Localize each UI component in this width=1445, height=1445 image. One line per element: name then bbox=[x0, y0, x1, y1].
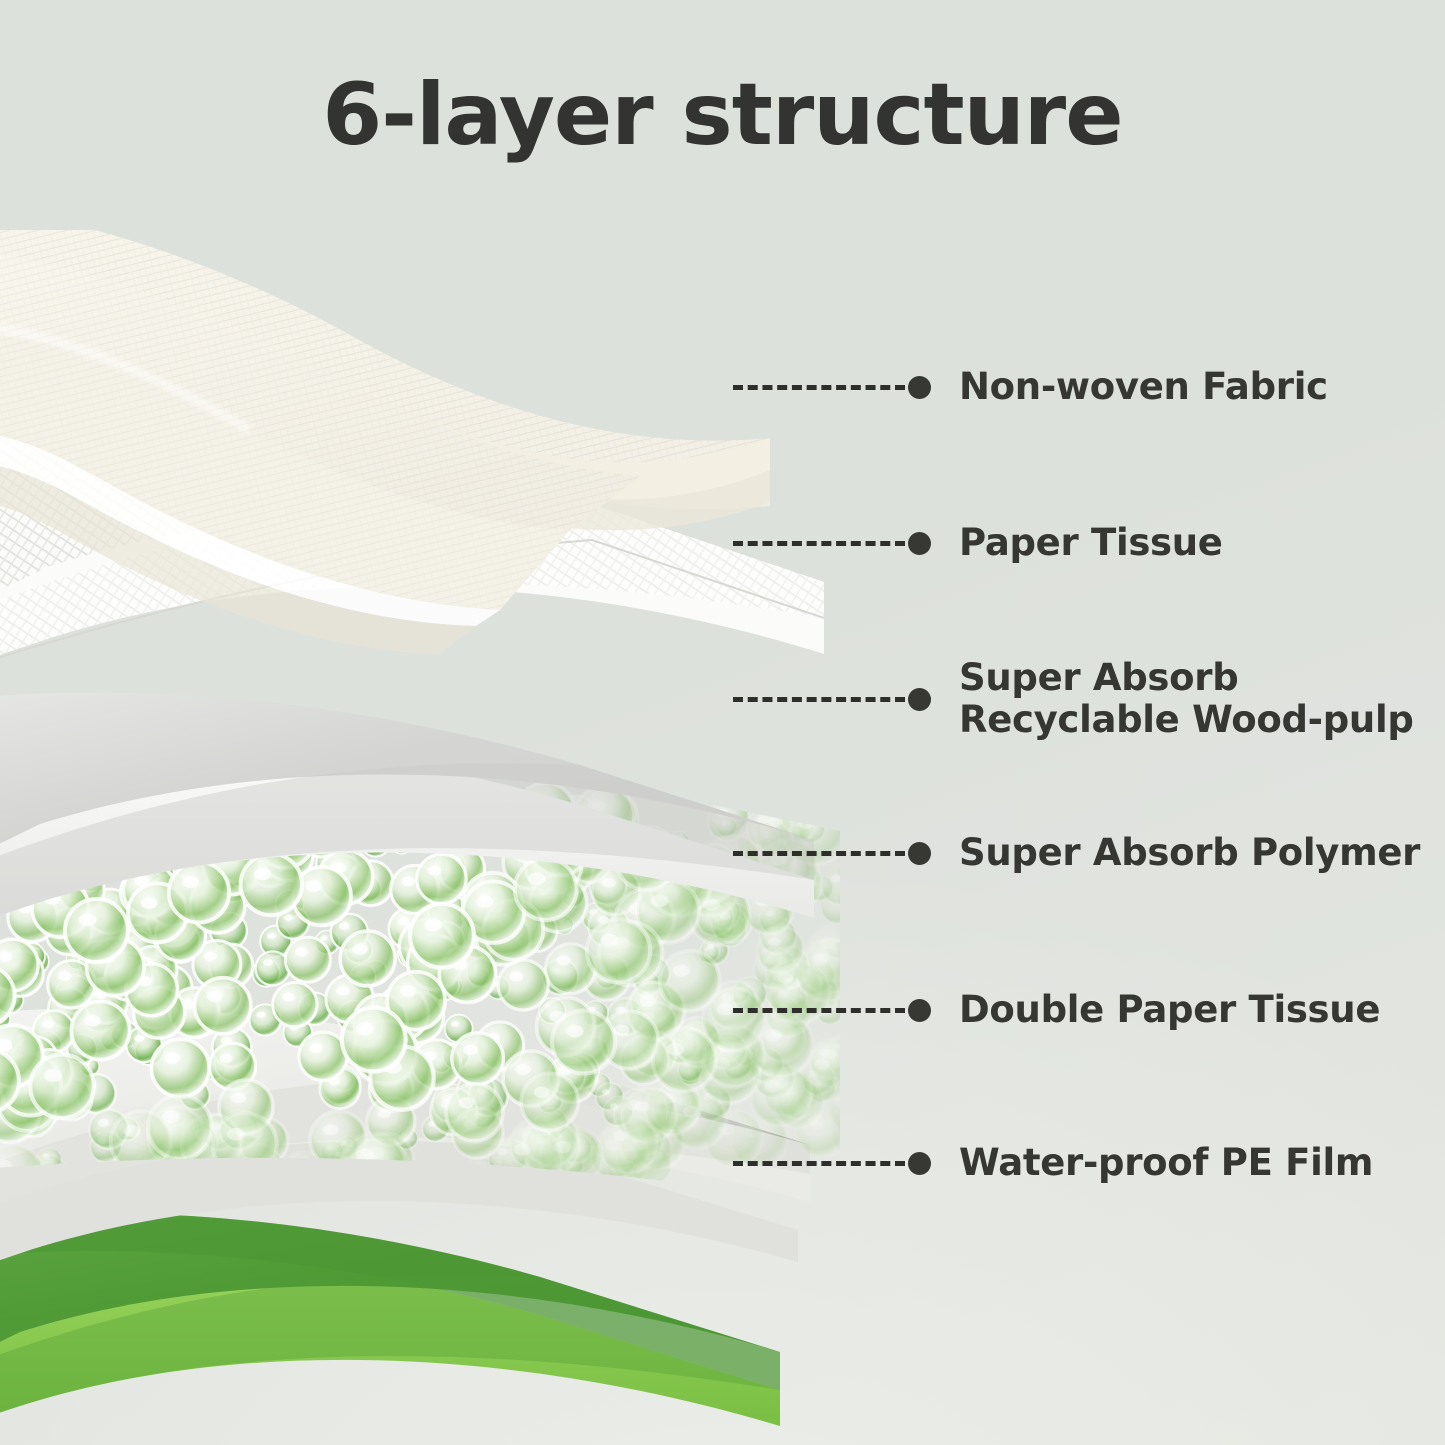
layer-pe-film-group bbox=[0, 1213, 780, 1445]
leader-dot bbox=[908, 1152, 931, 1175]
infographic-canvas: 6-layer structure bbox=[0, 0, 1445, 1445]
callout-label-double-paper-tissue: Double Paper Tissue bbox=[959, 989, 1380, 1031]
leader-dot bbox=[908, 532, 931, 555]
leader-dot bbox=[908, 688, 931, 711]
leader-line bbox=[733, 541, 905, 546]
callout-label-water-proof-pe-film: Water-proof PE Film bbox=[959, 1142, 1373, 1184]
leader-dot bbox=[908, 376, 931, 399]
leader-line bbox=[733, 1008, 905, 1013]
leader-dot bbox=[908, 999, 931, 1022]
callout-label-non-woven-fabric: Non-woven Fabric bbox=[959, 366, 1328, 408]
layer-illustration-svg bbox=[0, 230, 840, 1445]
leader-line bbox=[733, 1161, 905, 1166]
page-title: 6-layer structure bbox=[0, 72, 1445, 158]
callout-label-paper-tissue: Paper Tissue bbox=[959, 522, 1223, 564]
leader-line bbox=[733, 851, 905, 856]
layer-stack-illustration bbox=[0, 230, 840, 1445]
leader-dot bbox=[908, 842, 931, 865]
leader-line bbox=[733, 385, 905, 390]
leader-line bbox=[733, 697, 905, 702]
callout-label-super-absorb-recyclable-wood-pulp: Super Absorb Recyclable Wood-pulp bbox=[959, 657, 1414, 741]
callout-label-super-absorb-polymer: Super Absorb Polymer bbox=[959, 832, 1420, 874]
